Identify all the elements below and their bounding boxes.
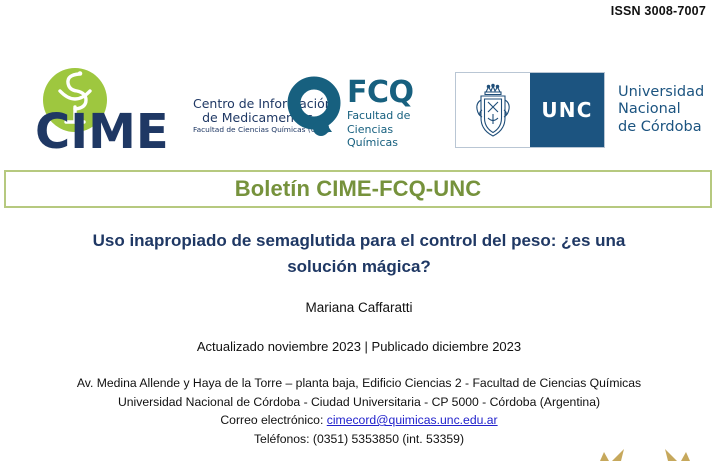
logo-fcq: FCQ Facultad de Ciencias Químicas xyxy=(287,76,439,146)
logo-cime: CIME Centro de Información de Medicament… xyxy=(33,64,283,156)
fcq-name-line1: Facultad de xyxy=(347,110,439,122)
unc-abbr: UNC xyxy=(541,98,592,122)
fcq-q-mark-icon xyxy=(287,76,345,138)
bulletin-title: Boletín CIME-FCQ-UNC xyxy=(235,176,481,202)
cime-logo-graphic: CIME xyxy=(33,64,203,154)
svg-text:CIME: CIME xyxy=(35,104,169,154)
article-author: Mariana Caffaratti xyxy=(0,300,718,315)
unc-abbr-cell: UNC xyxy=(530,73,604,147)
contact-block: Av. Medina Allende y Haya de la Torre – … xyxy=(0,374,718,448)
contact-email-link[interactable]: cimecord@quimicas.unc.edu.ar xyxy=(327,413,498,427)
fcq-name-line2: Ciencias Químicas xyxy=(347,124,439,149)
logo-strip: CIME Centro de Información de Medicament… xyxy=(0,62,718,158)
bulletin-banner: Boletín CIME-FCQ-UNC xyxy=(4,170,712,208)
fcq-text-block: FCQ Facultad de Ciencias Químicas xyxy=(347,78,439,149)
unc-name-line3: de Córdoba xyxy=(618,119,704,136)
unc-badge: UNC xyxy=(455,72,605,148)
contact-phone: Teléfonos: (0351) 5353850 (int. 53359) xyxy=(0,430,718,449)
fcq-abbr: FCQ xyxy=(347,78,439,108)
article-dates: Actualizado noviembre 2023 | Publicado d… xyxy=(0,339,718,354)
unc-coat-of-arms-icon xyxy=(469,80,517,140)
unc-name-line1: Universidad xyxy=(618,84,704,101)
unc-crest-cell xyxy=(456,73,530,147)
contact-email-line: Correo electrónico: cimecord@quimicas.un… xyxy=(0,411,718,430)
logo-unc: UNC Universidad Nacional de Córdoba xyxy=(455,72,704,148)
contact-address-line2: Universidad Nacional de Córdoba - Ciudad… xyxy=(0,393,718,412)
article-title-line1: Uso inapropiado de semaglutida para el c… xyxy=(24,228,694,254)
article-title-line2: solución mágica? xyxy=(24,254,694,280)
unc-name-block: Universidad Nacional de Córdoba xyxy=(618,84,704,136)
contact-address-line1: Av. Medina Allende y Haya de la Torre – … xyxy=(0,374,718,393)
unc-name-line2: Nacional xyxy=(618,101,704,118)
issn-label: ISSN 3008-7007 xyxy=(611,4,706,18)
article-title: Uso inapropiado de semaglutida para el c… xyxy=(24,228,694,280)
contact-email-label: Correo electrónico: xyxy=(220,413,326,427)
